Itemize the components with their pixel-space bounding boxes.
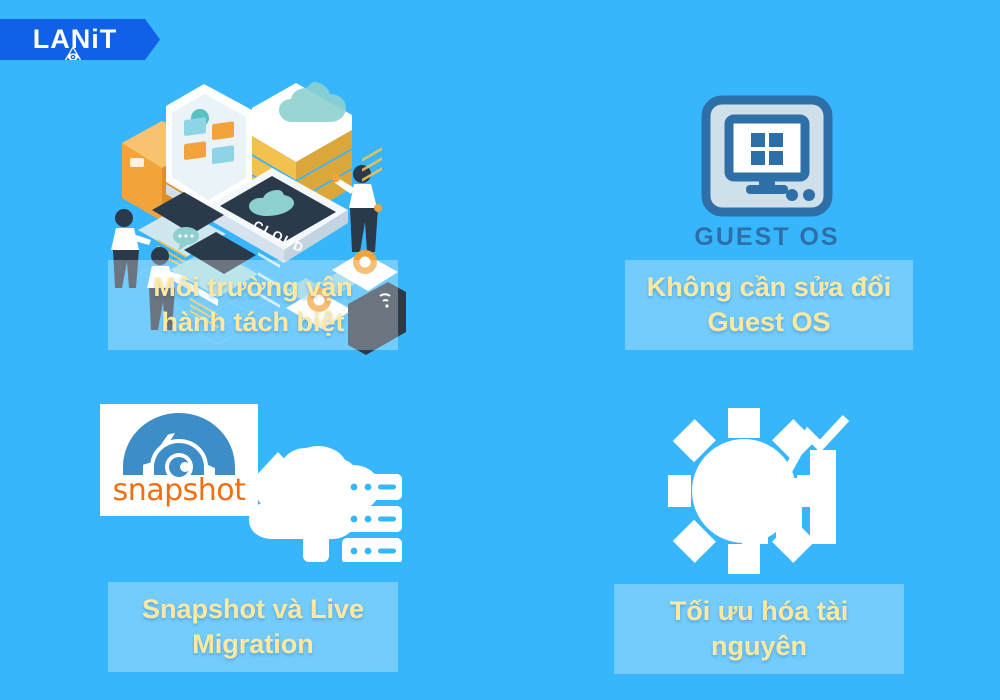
lanit-logo-banner[interactable]: LANiT <box>0 19 160 60</box>
guest-os-monitor-icon <box>701 95 833 217</box>
camera-aperture-icon <box>121 411 237 477</box>
snapshot-logo-card: snapshot <box>100 404 258 516</box>
gear-icon <box>668 408 827 574</box>
caption-snapshot-live-migration: Snapshot và Live Migration <box>108 582 398 672</box>
caption-resource-optimization: Tối ưu hóa tài nguyên <box>614 584 904 674</box>
gear-bar-chart-icon <box>668 406 858 576</box>
infographic-canvas: LANiT <box>0 0 1000 700</box>
guest-os-label: GUEST OS <box>694 223 839 252</box>
snapshot-wordmark: snapshot <box>113 473 246 508</box>
triangle-eye-icon <box>62 45 84 64</box>
cloud-migration-icon <box>244 412 404 562</box>
caption-no-guest-os-modification: Không cần sửa đổi Guest OS <box>625 260 913 350</box>
caption-isolated-environment: Môi trường vận hành tách biệt <box>108 260 398 350</box>
